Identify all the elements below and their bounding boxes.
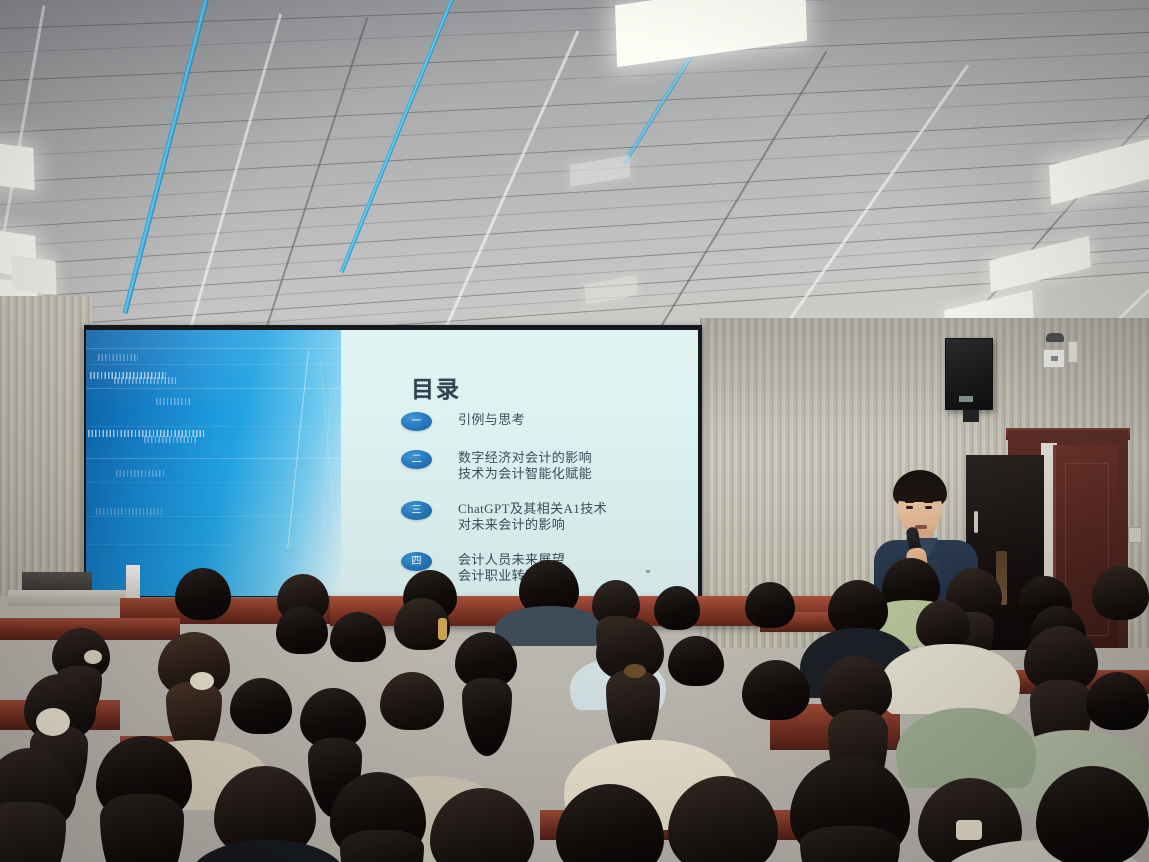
wall-speaker <box>945 338 993 410</box>
speaker-badge <box>959 396 973 402</box>
audience-head <box>916 600 970 650</box>
lecture-hall-photo: 目录 一 引例与思考 二 数字经济对会计的影响 技术为会计智能化赋能 三 Cha… <box>0 0 1149 862</box>
ceiling-light-panel <box>570 155 631 186</box>
toc-bullet-icon: 二 <box>401 450 432 469</box>
audience-head <box>745 582 795 628</box>
slide-title: 目录 <box>411 370 461 404</box>
control-box[interactable] <box>1043 349 1065 368</box>
wall-plate[interactable] <box>1068 341 1078 363</box>
audience-head <box>1086 672 1149 730</box>
audience-head <box>380 672 444 730</box>
presenter-eye <box>906 506 913 509</box>
audience-head <box>230 678 292 734</box>
hair-tie <box>84 650 102 664</box>
audience-shoulders <box>495 606 605 646</box>
toc-item-label: ChatGPT及其相关A1技术 对未来会计的影响 <box>458 501 607 533</box>
toc-item: 二 数字经济对会计的影响 技术为会计智能化赋能 <box>401 450 691 482</box>
toc-item: 三 ChatGPT及其相关A1技术 对未来会计的影响 <box>401 501 691 533</box>
audience-ponytail <box>800 826 900 862</box>
toc-item: 一 引例与思考 <box>401 412 691 431</box>
motion-sensor-icon <box>1046 333 1064 342</box>
hair-tie <box>624 664 646 678</box>
toc-bullet-icon: 三 <box>401 501 432 520</box>
audience-head <box>742 660 810 720</box>
speaker-bracket-icon <box>963 410 979 422</box>
toc-item-label: 引例与思考 <box>458 412 525 428</box>
audience-shoulders <box>880 644 1020 714</box>
ceiling-light-panel <box>585 275 638 305</box>
presenter-eyebrow <box>924 501 933 503</box>
toc-item-label: 数字经济对会计的影响 技术为会计智能化赋能 <box>458 450 592 482</box>
audience-head <box>276 606 328 654</box>
audience-head <box>654 586 700 630</box>
audience-ponytail <box>340 830 424 862</box>
audience-ponytail <box>100 794 184 862</box>
presenter-eyebrow <box>905 501 914 503</box>
ceiling-light-panel <box>11 255 56 295</box>
hair-tie <box>36 708 70 736</box>
hair-clip-icon <box>438 618 447 640</box>
audience-head <box>330 612 386 662</box>
ceiling-light-panel <box>615 0 807 67</box>
audience-head <box>175 568 231 620</box>
led-indicator-icon <box>1051 356 1058 361</box>
audience-shoulders <box>188 840 348 862</box>
ceiling <box>0 0 1149 340</box>
audience-shoulders <box>896 708 1036 788</box>
hair-tie <box>190 672 214 690</box>
audience-head <box>1092 566 1149 620</box>
audience-ponytail <box>0 802 66 862</box>
ceiling-light-panel <box>0 142 35 190</box>
phone-icon <box>956 820 982 840</box>
presenter-eye <box>925 506 932 509</box>
audience-ponytail <box>462 678 512 756</box>
audience <box>0 540 1149 862</box>
toc-bullet-icon: 一 <box>401 412 432 431</box>
audience-head <box>668 636 724 686</box>
